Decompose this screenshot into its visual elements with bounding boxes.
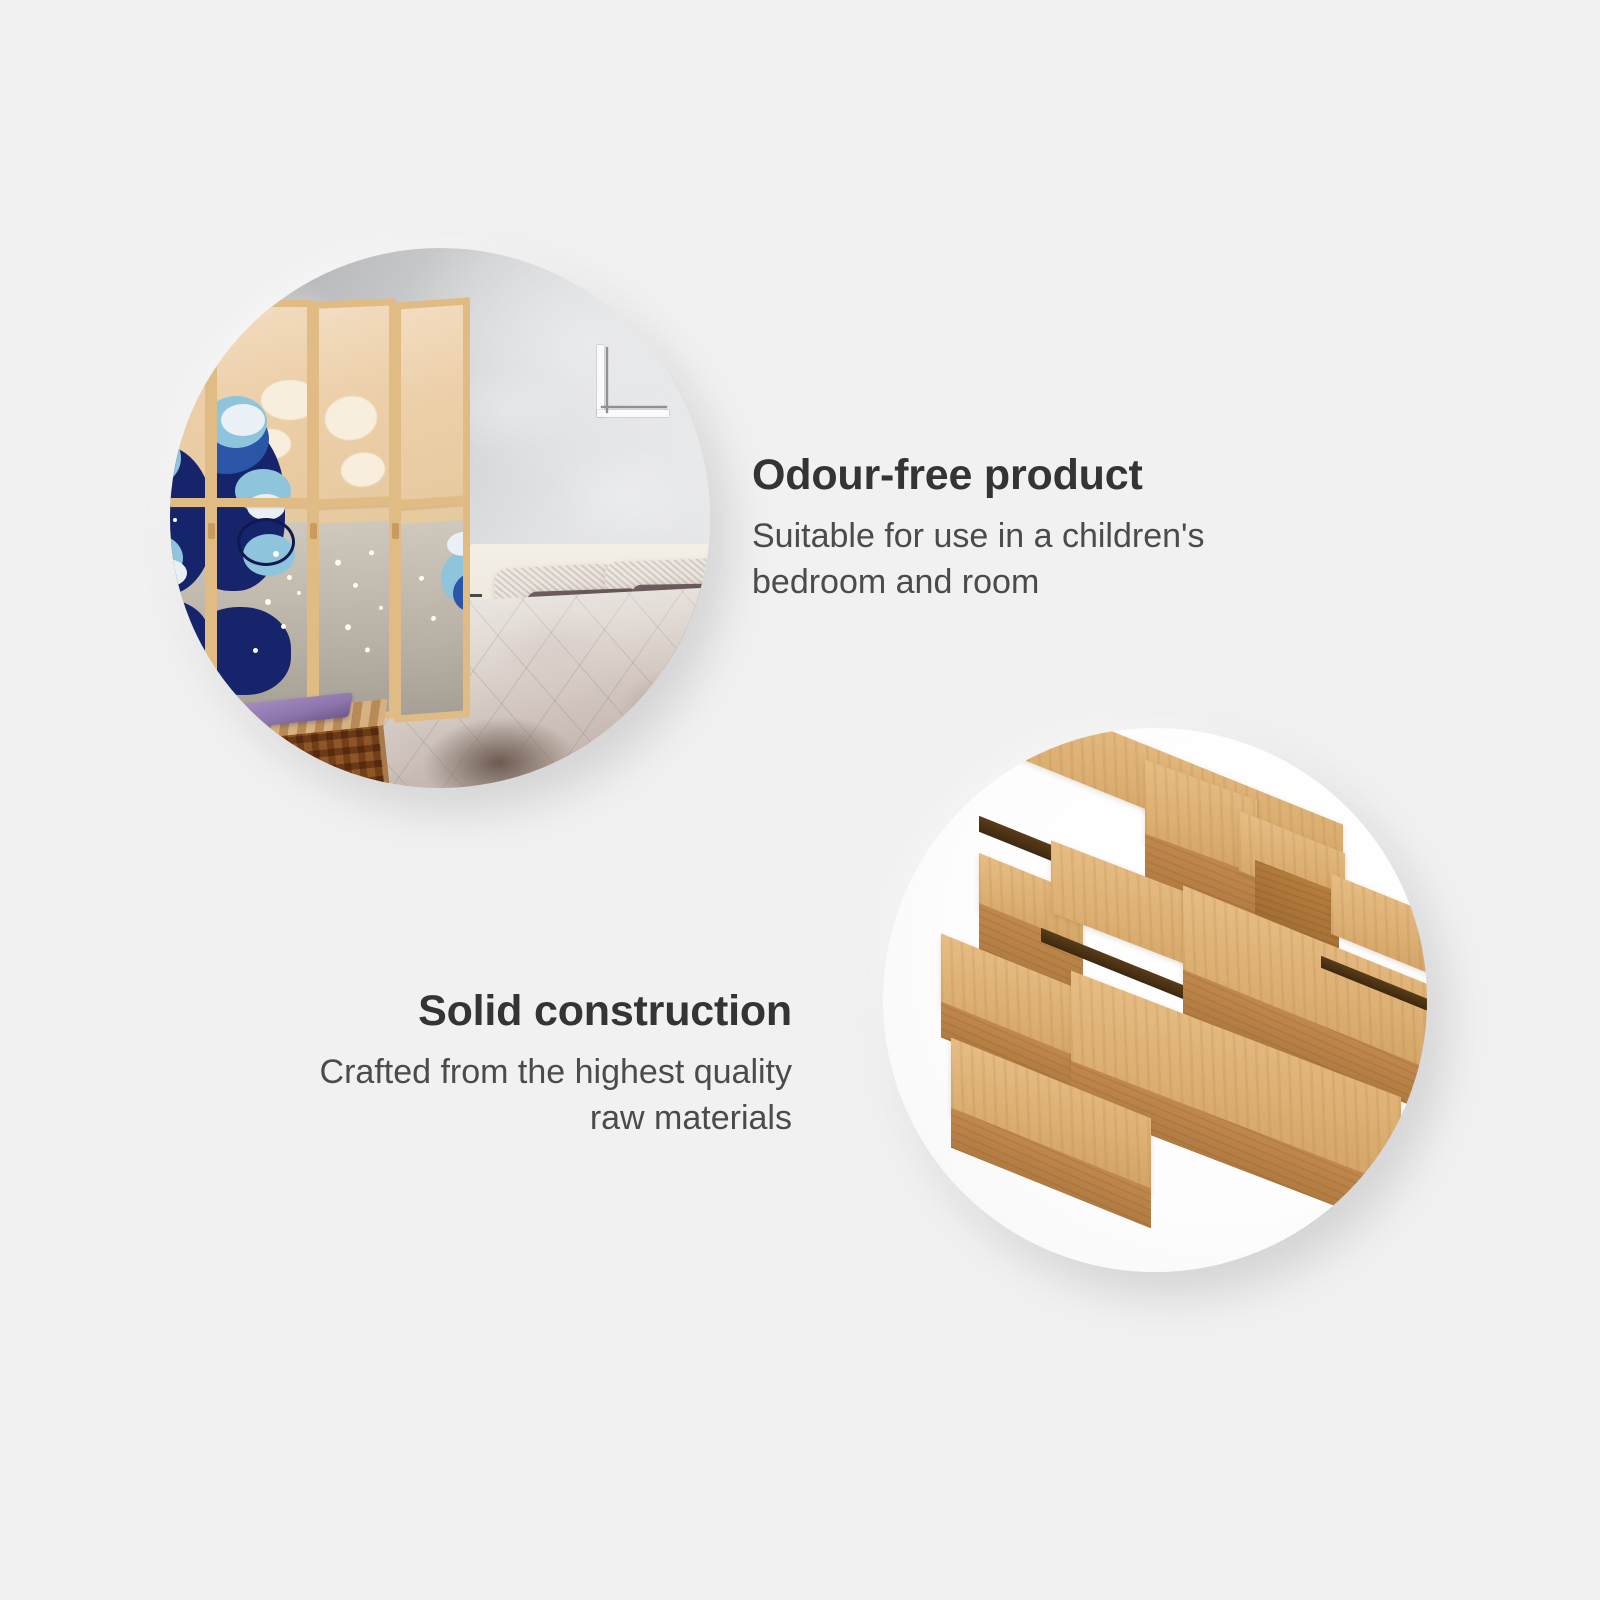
stacked-wooden-planks-photo	[883, 728, 1427, 1272]
wall-picture-frame	[597, 345, 669, 417]
feature-subtitle-line-2: bedroom and room	[752, 563, 1039, 601]
screen-panel-1	[170, 300, 212, 720]
feature-subtitle-line-2: raw materials	[590, 1099, 792, 1137]
feature-subtitle-line-1: Crafted from the highest quality	[320, 1053, 792, 1091]
feature-text-odour-free: Odour-free product Suitable for use in a…	[752, 452, 1272, 605]
screen-hinge-1	[208, 523, 215, 539]
feature-subtitle-odour-free: Suitable for use in a children's bedroom…	[752, 514, 1272, 604]
screen-hinge-3	[392, 523, 399, 539]
feature-panel-stage: Odour-free product Suitable for use in a…	[0, 0, 1600, 1600]
feature-title-solid-construction: Solid construction	[232, 988, 792, 1034]
screen-panel-2	[210, 300, 314, 720]
feature-subtitle-solid-construction: Crafted from the highest quality raw mat…	[232, 1050, 792, 1140]
screen-panel-3	[312, 298, 396, 722]
bedroom-with-folding-screen-photo	[170, 248, 710, 788]
folding-room-divider-screen	[170, 300, 466, 720]
feature-subtitle-line-1: Suitable for use in a children's	[752, 517, 1205, 555]
screen-panel-4	[394, 297, 470, 723]
rattan-storage-basket	[213, 692, 392, 788]
feature-title-odour-free: Odour-free product	[752, 452, 1272, 498]
screen-hinge-2	[310, 523, 317, 539]
feature-text-solid-construction: Solid construction Crafted from the high…	[232, 988, 792, 1141]
